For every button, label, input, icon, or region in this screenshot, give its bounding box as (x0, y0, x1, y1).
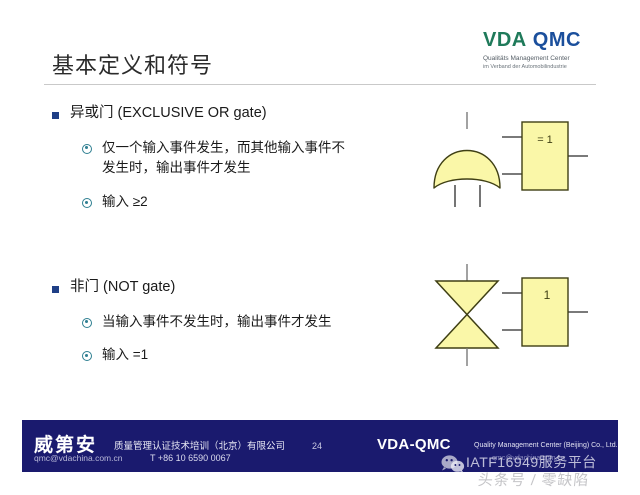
gate-diagrams: = 1 1 (0, 0, 640, 410)
footer-brand-subtitle: Quality Management Center (Beijing) Co.,… (474, 442, 618, 449)
footer-company-full-cn: 质量管理认证技术培训（北京）有限公司 (114, 438, 285, 452)
not-gate-body (436, 281, 498, 348)
slide-footer: 威第安 质量管理认证技术培训（北京）有限公司 qmc@vdachina.com.… (22, 420, 618, 472)
xor-gate-svg: = 1 (420, 112, 600, 212)
watermark-line-2: 头条号 / 零缺陷 (477, 469, 591, 490)
xor-box-label: = 1 (537, 134, 553, 146)
footer-brand: VDA-QMC (377, 436, 451, 453)
footer-telephone: T +86 10 6590 0067 (150, 453, 231, 463)
not-gate-diagram: 1 (420, 262, 600, 377)
xor-gate-diagram: = 1 (420, 112, 600, 217)
footer-email: qmc@vdachina.com.cn (34, 453, 122, 463)
footer-email-secondary: qmc@vdachina.com.cn (492, 455, 565, 462)
xor-gate-body (434, 151, 500, 189)
xor-box-body (522, 122, 568, 190)
not-gate-svg: 1 (420, 262, 600, 372)
footer-page-number: 24 (312, 441, 322, 451)
slide-canvas: 基本定义和符号 VDA QMC Qualitäts Management Cen… (0, 0, 640, 495)
not-box-label: 1 (544, 288, 551, 302)
